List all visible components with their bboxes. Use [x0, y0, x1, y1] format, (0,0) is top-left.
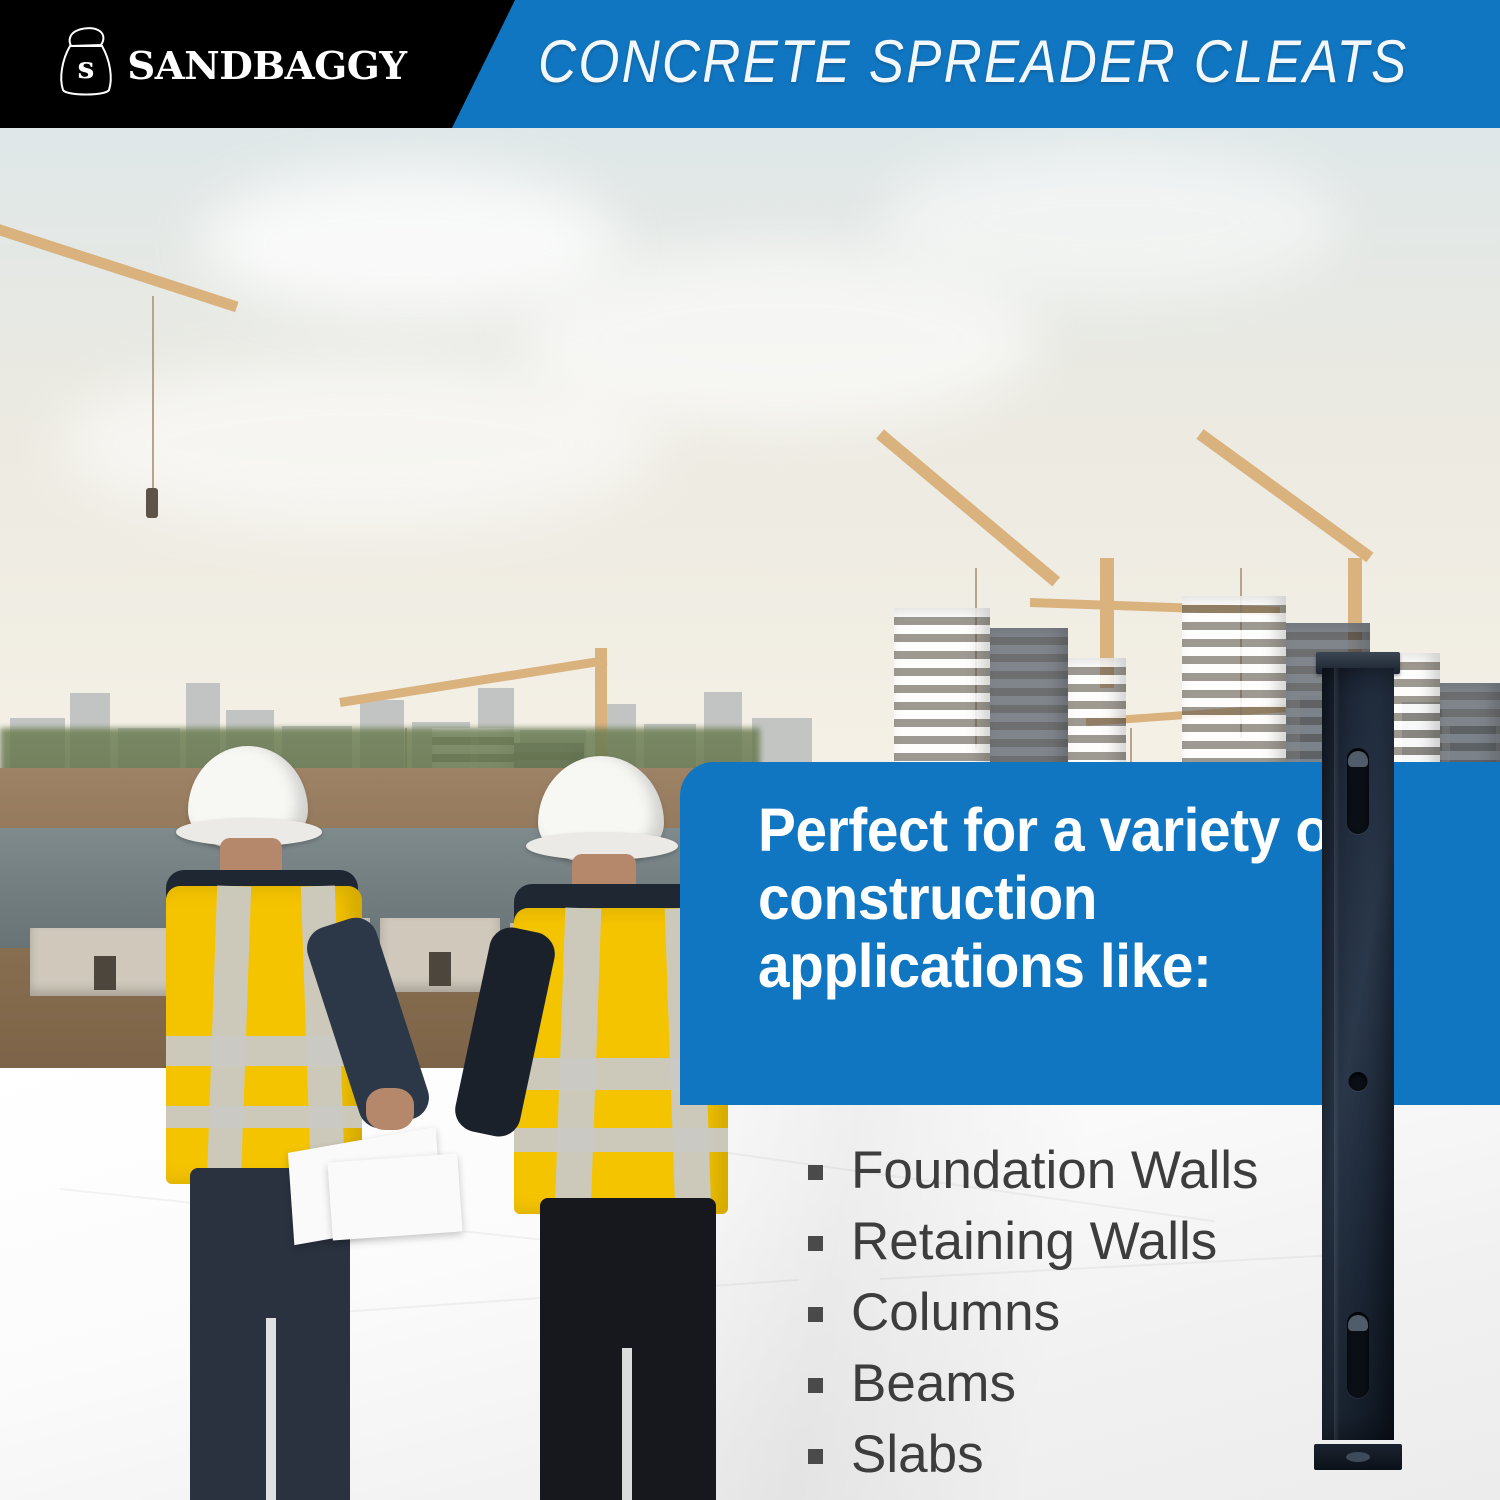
svg-text:s: s [78, 51, 95, 86]
square-bullet-icon [808, 1307, 823, 1322]
page-title: CONCRETE SPREADER CLEATS [538, 27, 1408, 97]
cleat-top-slot [1347, 748, 1369, 834]
square-bullet-icon [808, 1236, 823, 1251]
brand-logo[interactable]: s sandbaggy [56, 22, 404, 98]
cleat-bottom-slot [1347, 1312, 1369, 1398]
square-bullet-icon [808, 1449, 823, 1464]
headline-text: Perfect for a variety of construction ap… [758, 796, 1409, 1000]
concrete-spreader-cleat-product [1322, 652, 1394, 1470]
tower-crane [876, 429, 1060, 586]
crane-hook [146, 488, 158, 518]
list-item-label: Foundation Walls [851, 1142, 1259, 1200]
foundation-block [30, 928, 180, 996]
square-bullet-icon [808, 1165, 823, 1180]
list-item-label: Slabs [851, 1426, 984, 1484]
blueprints [327, 1154, 462, 1241]
sandbag-icon: s [56, 22, 116, 98]
cleat-center-hole [1349, 1072, 1368, 1091]
list-item-label: Columns [851, 1284, 1060, 1342]
list-item-label: Retaining Walls [851, 1213, 1217, 1271]
hand [366, 1088, 414, 1130]
square-bullet-icon [808, 1378, 823, 1393]
list-item-label: Beams [851, 1355, 1016, 1413]
cleat-base-plate [1314, 1444, 1402, 1470]
brand-header-bar: s sandbaggy CONCRETE SPREADER CLEATS [0, 0, 1500, 128]
crane-cable [152, 296, 154, 496]
product-infographic: Perfect for a variety of construction ap… [0, 0, 1500, 1500]
brand-name: sandbaggy [127, 33, 406, 87]
cloud [880, 148, 1340, 298]
tower-crane [1196, 429, 1373, 562]
